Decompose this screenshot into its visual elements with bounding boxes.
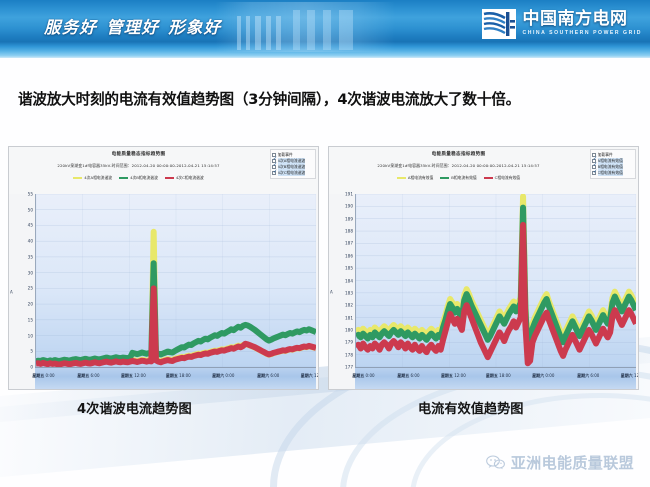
y-tick-label: 177: [345, 365, 353, 370]
y-tick-label: 5: [30, 349, 33, 354]
checkbox-label-3-left: 4次C相电流谐波: [278, 170, 306, 176]
y-tick-label: 188: [345, 229, 353, 234]
header-banner: 服务好管理好形象好 中国南方电网 CHINA SOUTHERN POWER GR…: [0, 0, 650, 58]
x-tick-label: 星期六 0:00: [212, 373, 234, 379]
x-tick-label: 星期五 18:00: [166, 373, 191, 379]
caption-right-chart: 电流有效值趋势图: [418, 398, 524, 417]
legend-item-1-right[interactable]: B相电流有效值: [440, 175, 476, 181]
plot-area-left[interactable]: [35, 194, 316, 367]
panel-header-right: 电能质量稳态指标趋势图 220kV泉湖变1#电容器35kV-时间范围：2012-…: [329, 147, 638, 194]
legend-label-2-left: 4次C相电流谐波: [176, 175, 204, 181]
checkbox-label-3-right: C相电流有效值: [598, 170, 623, 176]
y-tick-label: 178: [345, 352, 353, 357]
checkbox-label-1-left: 4次A相电流谐波: [278, 158, 306, 164]
x-tick-label: 星期六 0:00: [532, 373, 554, 379]
x-tick-label: 星期五 12:00: [121, 373, 146, 379]
x-axis-ticks-right: 星期五 0:00星期五 6:00星期五 12:00星期五 18:00星期六 0:…: [355, 367, 636, 389]
x-tick-label: 星期六 6:00: [577, 373, 599, 379]
legend-label-0-right: A相电流有效值: [408, 175, 433, 181]
legend-label-2-right: C相电流有效值: [495, 175, 520, 181]
chart-title-right: 电能质量稳态指标趋势图: [329, 151, 588, 157]
checkbox-label-0-left: 加载事件: [278, 152, 293, 158]
checkbox-label-1-right: A相电流有效值: [598, 158, 623, 164]
legend-swatch-icon-2-left: [165, 177, 174, 179]
plot-wrapper-left: A 0510152025303540455055 星期五 0:00星期五 6:0…: [9, 194, 318, 389]
chart-legend-left: 4次A相电流谐波 4次B相电流谐波 4次C相电流谐波: [9, 175, 268, 181]
legend-label-1-left: 4次B相电流谐波: [130, 175, 158, 181]
legend-item-2-left[interactable]: 4次C相电流谐波: [165, 175, 204, 181]
chart-legend-right: A相电流有效值 B相电流有效值 C相电流有效值: [329, 175, 588, 181]
y-tick-label: 190: [345, 204, 353, 209]
y-tick-label: 185: [345, 266, 353, 271]
y-tick-label: 179: [345, 340, 353, 345]
banner-slogan: 服务好管理好形象好: [44, 14, 230, 38]
x-axis-ticks-left: 星期五 0:00星期五 6:00星期五 12:00星期五 18:00星期六 0:…: [35, 367, 316, 389]
footer-org-name: 亚洲电能质量联盟: [511, 452, 634, 473]
page-title: 谐波放大时刻的电流有效值趋势图（3分钟间隔），4次谐波电流放大了数十倍。: [18, 88, 636, 109]
y-axis-title-right: A: [330, 289, 333, 294]
y-tick-label: 0: [30, 365, 33, 370]
banner-cityscape-watermark: [215, 2, 395, 52]
checkbox-icon-3-left[interactable]: [272, 171, 276, 175]
brand-name-en: CHINA SOUTHERN POWER GRID: [523, 31, 643, 36]
checkbox-row-3-right[interactable]: C相电流有效值: [592, 170, 634, 176]
y-tick-label: 50: [28, 207, 33, 212]
y-tick-label: 186: [345, 253, 353, 258]
slogan-part-2: 管理好: [106, 18, 159, 37]
y-tick-label: 182: [345, 303, 353, 308]
legend-swatch-icon-0-right: [397, 177, 406, 179]
checkbox-icon-3-right[interactable]: [592, 171, 596, 175]
brand-name-cn: 中国南方电网: [523, 11, 643, 28]
y-tick-label: 189: [345, 216, 353, 221]
x-tick-label: 星期五 18:00: [486, 373, 511, 379]
legend-label-0-left: 4次A相电流谐波: [84, 175, 112, 181]
rms-current-trend-panel: 电能质量稳态指标趋势图 220kV泉湖变1#电容器35kV-时间范围：2012-…: [328, 146, 639, 390]
y-tick-label: 180: [345, 327, 353, 332]
checkbox-label-2-left: 4次B相电流谐波: [278, 164, 306, 170]
slogan-part-3: 形象好: [168, 18, 221, 37]
legend-item-2-right[interactable]: C相电流有效值: [484, 175, 520, 181]
y-tick-label: 40: [28, 239, 33, 244]
legend-item-0-left[interactable]: 4次A相电流谐波: [73, 175, 112, 181]
x-tick-label: 星期五 6:00: [77, 373, 99, 379]
checkbox-label-0-right: 加载事件: [598, 152, 613, 158]
plot-area-right[interactable]: [355, 194, 636, 367]
x-tick-label: 星期六 12:00: [301, 373, 319, 379]
southern-power-grid-logo-icon: [482, 9, 516, 39]
legend-swatch-icon-1-right: [440, 177, 449, 179]
harmonic-current-trend-panel: 电能质量稳态指标趋势图 220kV泉湖变1#电容器35kV-时间范围：2012-…: [8, 146, 319, 390]
brand-text-block: 中国南方电网 CHINA SOUTHERN POWER GRID: [523, 11, 643, 36]
y-tick-label: 183: [345, 290, 353, 295]
legend-swatch-icon-2-right: [484, 177, 493, 179]
checkbox-label-2-right: B相电流有效值: [598, 164, 623, 170]
footer-watermark: 亚洲电能质量联盟: [486, 452, 634, 473]
plot-wrapper-right: A 17717817918018118218318418518618718818…: [329, 194, 638, 389]
y-tick-label: 35: [28, 254, 33, 259]
series-checkbox-list-right[interactable]: 加载事件 A相电流有效值 B相电流有效值 C相电流有效值: [590, 149, 636, 179]
x-tick-label: 星期五 0:00: [352, 373, 374, 379]
y-tick-label: 184: [345, 278, 353, 283]
legend-item-0-right[interactable]: A相电流有效值: [397, 175, 433, 181]
legend-swatch-icon-0-left: [73, 177, 82, 179]
y-tick-label: 187: [345, 241, 353, 246]
y-tick-label: 25: [28, 286, 33, 291]
legend-label-1-right: B相电流有效值: [451, 175, 476, 181]
x-tick-label: 星期六 12:00: [621, 373, 639, 379]
x-tick-label: 星期五 12:00: [441, 373, 466, 379]
y-tick-label: 181: [345, 315, 353, 320]
slide-canvas: 服务好管理好形象好 中国南方电网 CHINA SOUTHERN POWER GR…: [0, 0, 650, 487]
y-tick-label: 10: [28, 333, 33, 338]
slogan-part-1: 服务好: [44, 18, 97, 37]
y-tick-label: 30: [28, 270, 33, 275]
panel-header-left: 电能质量稳态指标趋势图 220kV泉湖变1#电容器35kV-时间范围：2012-…: [9, 147, 318, 194]
x-tick-label: 星期五 6:00: [397, 373, 419, 379]
series-checkbox-list-left[interactable]: 加载事件 4次A相电流谐波 4次B相电流谐波 4次C相电流谐波: [270, 149, 316, 179]
brand-lockup: 中国南方电网 CHINA SOUTHERN POWER GRID: [482, 9, 643, 39]
chart-title-left: 电能质量稳态指标趋势图: [9, 151, 268, 157]
wechat-icon: [486, 455, 505, 470]
x-tick-label: 星期五 0:00: [32, 373, 54, 379]
y-tick-label: 20: [28, 302, 33, 307]
checkbox-row-3-left[interactable]: 4次C相电流谐波: [272, 170, 314, 176]
y-tick-label: 15: [28, 317, 33, 322]
x-tick-label: 星期六 6:00: [257, 373, 279, 379]
y-tick-label: 191: [345, 192, 353, 197]
chart-subtitle-right: 220kV泉湖变1#电容器35kV-时间范围：2012-04-20 00:00:…: [329, 163, 588, 169]
caption-left-chart: 4次谐波电流趋势图: [77, 398, 192, 417]
legend-item-1-left[interactable]: 4次B相电流谐波: [119, 175, 158, 181]
y-axis-ticks-left: 0510152025303540455055: [15, 194, 33, 367]
legend-swatch-icon-1-left: [119, 177, 128, 179]
chart-subtitle-left: 220kV泉湖变1#电容器35kV-时间范围：2012-04-20 00:00:…: [9, 163, 268, 169]
y-tick-label: 55: [28, 192, 33, 197]
y-axis-title-left: A: [10, 289, 13, 294]
y-tick-label: 45: [28, 223, 33, 228]
y-axis-ticks-right: 1771781791801811821831841851861871881891…: [335, 194, 353, 367]
